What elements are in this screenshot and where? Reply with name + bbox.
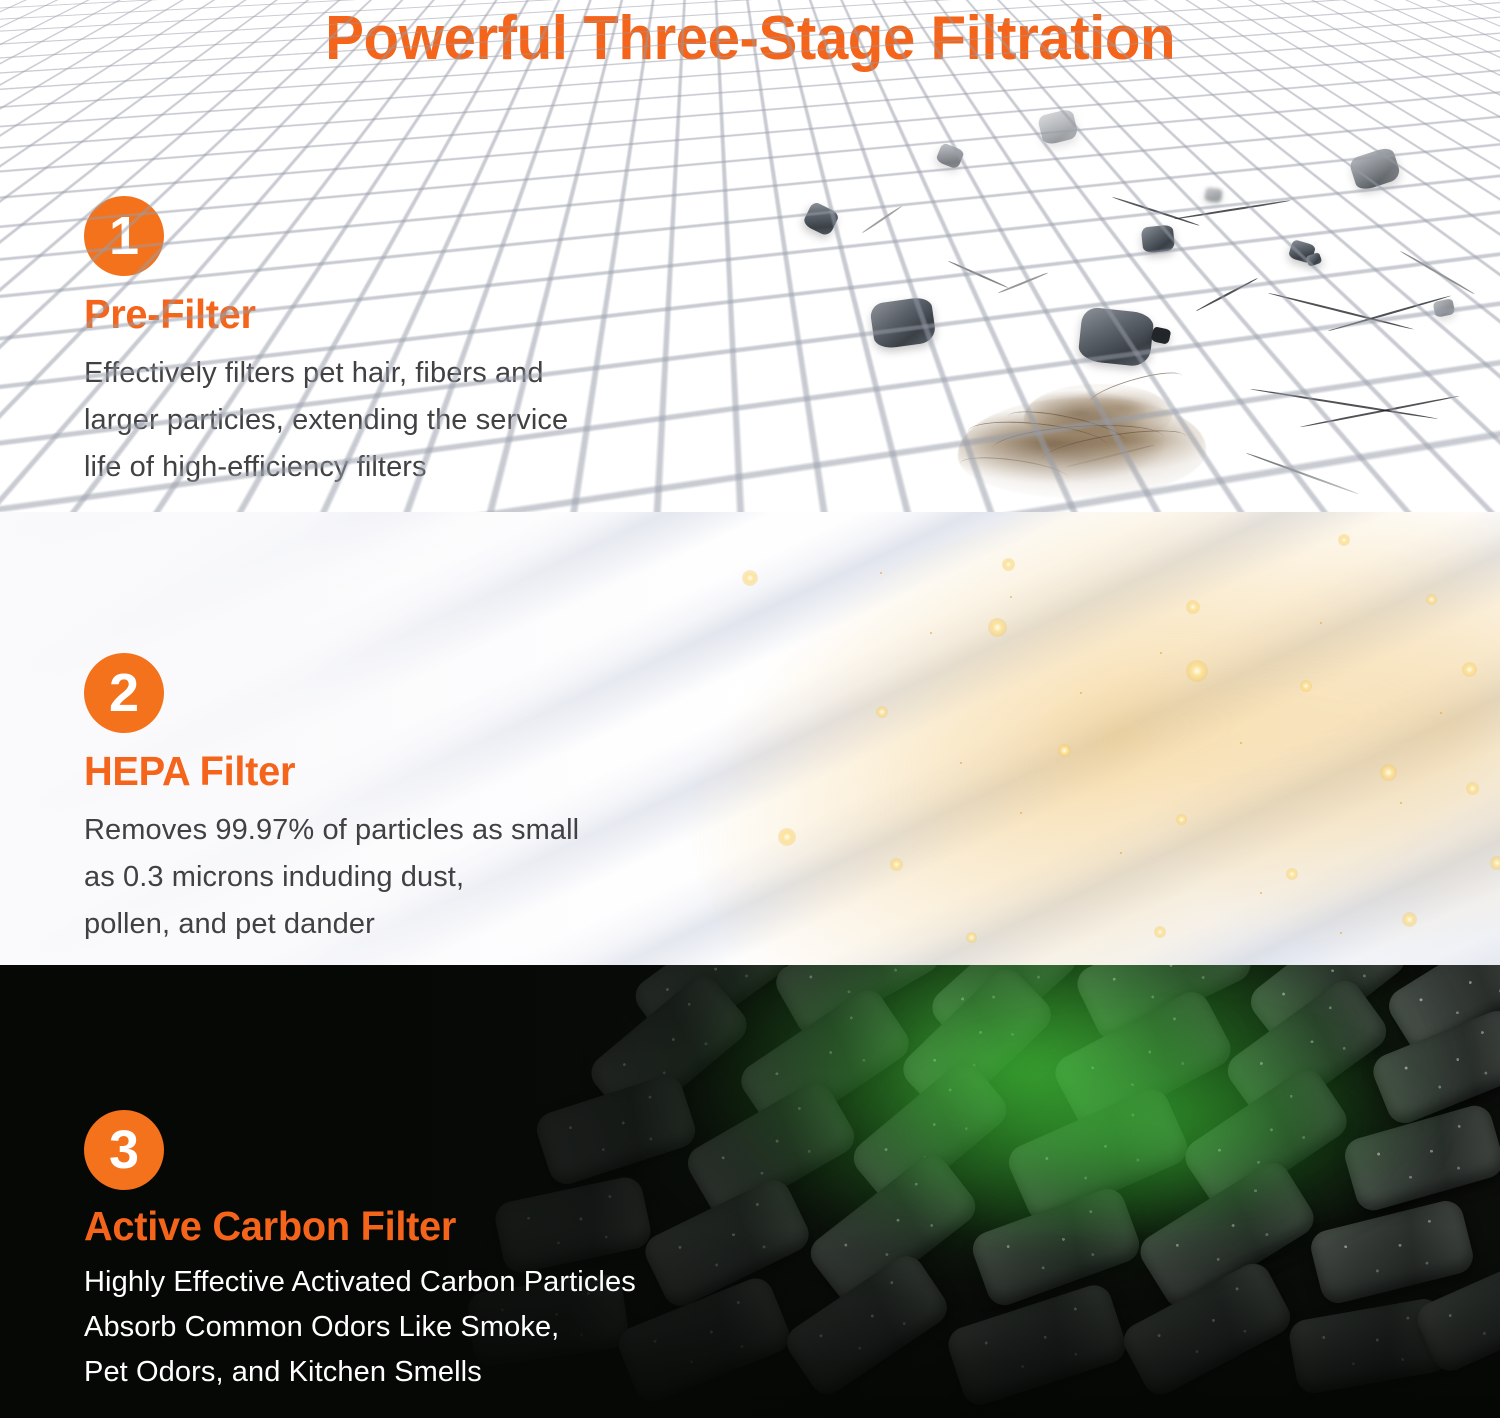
gold-sparkle <box>988 618 1007 637</box>
dust-grain <box>1010 596 1012 598</box>
stage-body-active-carbon-filter: Highly Effective Activated Carbon Partic… <box>84 1260 636 1395</box>
dust-grain <box>1400 802 1402 804</box>
stage-heading-pre-filter: Pre-Filter <box>84 290 554 338</box>
gold-sparkle <box>966 932 977 943</box>
stage-number-badge-3: 3 <box>84 1110 164 1190</box>
stage-body-line: Removes 99.97% of particles as small <box>84 807 579 854</box>
stage-number-badge-2: 2 <box>84 653 164 733</box>
stage-number-badge-1: 1 <box>84 196 164 276</box>
stage-section-active-carbon-filter: 3 Active Carbon Filter Highly Effective … <box>0 965 1500 1418</box>
gold-sparkle <box>1426 594 1437 605</box>
stage-copy-hepa-filter: 2 HEPA Filter Removes 99.97% of particle… <box>84 653 579 948</box>
stage-body-pre-filter: Effectively filters pet hair, fibers and… <box>84 350 568 491</box>
gold-sparkle <box>1466 782 1479 795</box>
dust-grain <box>1440 712 1442 714</box>
dust-grain <box>1260 892 1262 894</box>
debris-pebble <box>1141 224 1176 253</box>
stage-body-line: larger particles, extending the service <box>84 397 568 444</box>
dust-grain <box>1340 932 1342 934</box>
gold-sparkle <box>1402 912 1417 927</box>
three-stage-filtration-infographic: Powerful Three-Stage Filtration <box>0 0 1500 1418</box>
dust-grain <box>930 632 932 634</box>
gold-sparkle <box>1154 926 1166 938</box>
dust-grain <box>880 572 882 574</box>
dust-grain <box>1160 652 1162 654</box>
dust-grain <box>960 762 962 764</box>
stage-body-line: life of high-efficiency filters <box>84 444 568 491</box>
stage-heading-hepa-filter: HEPA Filter <box>84 747 564 795</box>
gold-sparkle <box>1002 558 1015 571</box>
gold-sparkle <box>1490 856 1500 870</box>
dust-grain <box>1320 622 1322 624</box>
gold-sparkle <box>1058 744 1071 757</box>
stage-body-line: Effectively filters pet hair, fibers and <box>84 350 568 397</box>
gold-sparkle <box>1286 868 1298 880</box>
dust-grain <box>1020 812 1022 814</box>
stage-section-hepa-filter: 2 HEPA Filter Removes 99.97% of particle… <box>0 512 1500 965</box>
stage-body-line: as 0.3 microns induding dust, <box>84 854 579 901</box>
gold-sparkle <box>1338 534 1350 546</box>
gold-sparkle <box>1176 814 1187 825</box>
dust-grain <box>1120 852 1122 854</box>
stage-body-line: pollen, and pet dander <box>84 901 579 948</box>
gold-sparkle <box>876 706 888 718</box>
stage-body-line: Highly Effective Activated Carbon Partic… <box>84 1260 636 1305</box>
gold-sparkle <box>1462 662 1477 677</box>
gold-sparkle <box>1380 764 1397 781</box>
gold-sparkle <box>1186 660 1208 682</box>
stage-copy-pre-filter: 1 Pre-Filter Effectively filters pet hai… <box>84 196 568 491</box>
stage-heading-active-carbon-filter: Active Carbon Filter <box>84 1202 619 1250</box>
stage-copy-active-carbon-filter: 3 Active Carbon Filter Highly Effective … <box>84 1110 636 1395</box>
stage-body-line: Pet Odors, and Kitchen Smells <box>84 1350 636 1395</box>
stage-body-line: Absorb Common Odors Like Smoke, <box>84 1305 636 1350</box>
stage-section-pre-filter: 1 Pre-Filter Effectively filters pet hai… <box>0 0 1500 512</box>
dust-grain <box>1240 742 1242 744</box>
dust-grain <box>1080 692 1082 694</box>
debris-pebble <box>1077 306 1154 367</box>
gold-sparkle <box>1300 680 1312 692</box>
stage-body-hepa-filter: Removes 99.97% of particles as small as … <box>84 807 579 948</box>
gold-sparkle <box>890 858 903 871</box>
gold-sparkle <box>1186 600 1200 614</box>
gold-sparkle <box>778 828 796 846</box>
